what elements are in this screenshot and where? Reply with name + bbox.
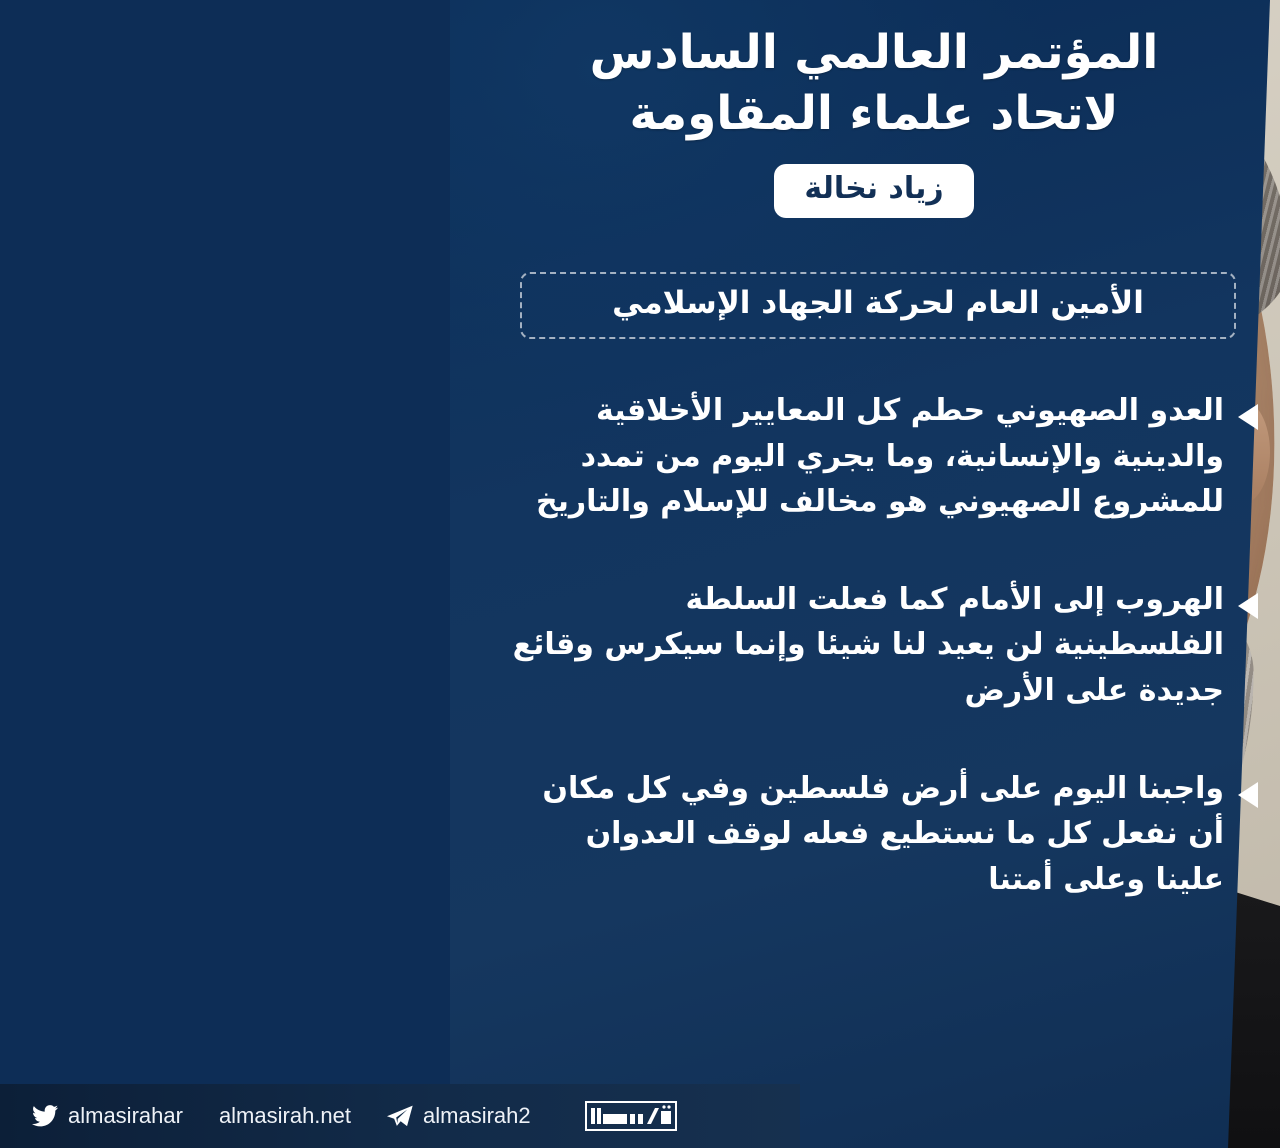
twitter-icon	[32, 1105, 58, 1127]
quote-item: الهروب إلى الأمام كما فعلت السلطة الفلسط…	[506, 577, 1266, 714]
quote-card: المؤتمر العالمي السادس لاتحاد علماء المق…	[0, 0, 1280, 1148]
almasirah-logo[interactable]: المسيرة	[585, 1099, 677, 1133]
triangle-left-icon	[1238, 404, 1258, 430]
quote-text: واجبنا اليوم على أرض فلسطين وفي كل مكان …	[506, 766, 1224, 903]
triangle-left-icon	[1238, 782, 1258, 808]
title-line-1: المؤتمر العالمي السادس	[516, 22, 1232, 83]
twitter-account[interactable]: almasirahar	[32, 1103, 183, 1129]
triangle-left-icon	[1238, 593, 1258, 619]
website-link[interactable]: almasirah.net	[219, 1103, 351, 1129]
quote-text: العدو الصهيوني حطم كل المعايير الأخلاقية…	[506, 388, 1224, 525]
quote-text: الهروب إلى الأمام كما فعلت السلطة الفلسط…	[506, 577, 1224, 714]
title-line-2: لاتحاد علماء المقاومة	[516, 83, 1232, 144]
quote-list: العدو الصهيوني حطم كل المعايير الأخلاقية…	[506, 388, 1266, 954]
telegram-handle-label: almasirah2	[423, 1103, 531, 1129]
speaker-role-text: الأمين العام لحركة الجهاد الإسلامي	[544, 284, 1212, 323]
header: المؤتمر العالمي السادس لاتحاد علماء المق…	[516, 22, 1232, 218]
quote-item: واجبنا اليوم على أرض فلسطين وفي كل مكان …	[506, 766, 1266, 903]
speaker-role-box: الأمين العام لحركة الجهاد الإسلامي	[520, 272, 1236, 339]
telegram-account[interactable]: almasirah2	[387, 1103, 531, 1129]
quote-item: العدو الصهيوني حطم كل المعايير الأخلاقية…	[506, 388, 1266, 525]
footer-bar: almasirahar almasirah.net almasirah2	[0, 1084, 800, 1148]
twitter-handle-label: almasirahar	[68, 1103, 183, 1129]
website-label: almasirah.net	[219, 1103, 351, 1129]
speaker-name-badge: زياد نخالة	[774, 164, 973, 218]
page-title: المؤتمر العالمي السادس لاتحاد علماء المق…	[516, 22, 1232, 144]
telegram-icon	[387, 1105, 413, 1127]
